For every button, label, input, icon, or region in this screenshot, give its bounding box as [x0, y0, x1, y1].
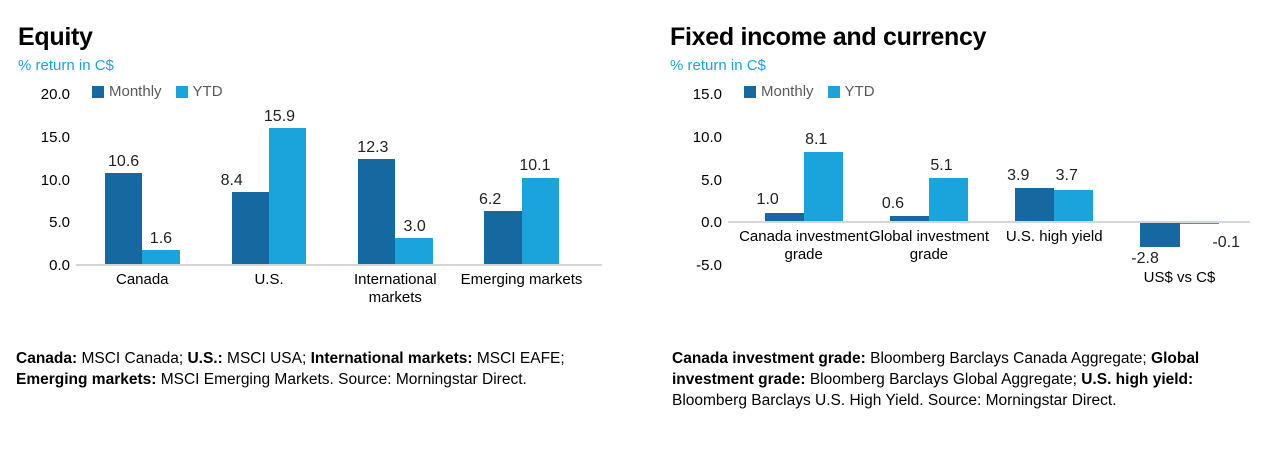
bar-monthly[interactable] [890, 216, 929, 221]
fixed-income-y-axis: 15.0 10.0 5.0 0.0 -5.0 [670, 81, 722, 296]
equity-y-tick: 5.0 [18, 215, 70, 230]
bar-value-ytd: 15.9 [250, 109, 310, 125]
bar-value-monthly: 1.0 [736, 192, 799, 208]
equity-plot-area: Monthly YTD 10.6 1.6 Canada [76, 81, 602, 296]
legend-item-ytd: YTD [176, 83, 223, 100]
bar-value-ytd: 10.1 [504, 158, 567, 174]
bar-monthly[interactable] [765, 213, 804, 222]
bar-ytd[interactable] [522, 178, 559, 265]
equity-group-canada: 10.6 1.6 Canada [105, 81, 180, 296]
legend-label-ytd: YTD [193, 83, 223, 100]
fixed-income-panel: Fixed income and currency % return in C$… [660, 0, 1270, 296]
equity-y-tick: 0.0 [18, 258, 70, 273]
equity-panel: Equity % return in C$ 20.0 15.0 10.0 5.0… [0, 0, 660, 296]
fixed-income-chart: 15.0 10.0 5.0 0.0 -5.0 Monthly YTD [670, 81, 1250, 296]
equity-y-tick: 10.0 [18, 173, 70, 188]
fixed-income-y-tick: 10.0 [670, 130, 722, 145]
equity-y-axis: 20.0 15.0 10.0 5.0 0.0 [18, 81, 70, 296]
equity-y-tick: 20.0 [18, 87, 70, 102]
bar-monthly[interactable] [358, 159, 395, 264]
fixed-income-panel-title: Fixed income and currency [670, 22, 1270, 52]
fixed-income-panel-subtitle: % return in C$ [670, 56, 1270, 75]
equity-footnote: Canada: MSCI Canada; U.S.: MSCI USA; Int… [16, 348, 596, 390]
bar-value-monthly: -2.8 [1114, 251, 1177, 267]
legend-swatch-monthly-icon [744, 86, 756, 98]
equity-panel-title: Equity [18, 22, 660, 52]
bar-monthly[interactable] [1140, 223, 1179, 247]
equity-panel-subtitle: % return in C$ [18, 56, 660, 75]
bar-value-ytd: 1.6 [132, 231, 190, 247]
fixed-income-group-canada-ig: 1.0 8.1 Canada investment grade [765, 81, 843, 296]
bar-ytd[interactable] [1054, 190, 1093, 222]
equity-cat-label: International markets [333, 271, 458, 307]
fixed-income-y-tick: 0.0 [670, 215, 722, 230]
bar-value-ytd: 5.1 [910, 158, 973, 174]
bar-ytd[interactable] [1180, 223, 1219, 224]
bar-value-monthly: 8.4 [202, 173, 262, 189]
equity-group-us: 8.4 15.9 U.S. [232, 81, 307, 296]
bar-monthly[interactable] [105, 173, 142, 264]
bar-ytd[interactable] [395, 238, 432, 264]
bar-ytd[interactable] [929, 178, 968, 222]
fixed-income-group-usd-vs-cad: -2.8 -0.1 US$ vs C$ [1140, 81, 1218, 296]
bar-ytd[interactable] [142, 250, 179, 264]
bar-monthly[interactable] [232, 192, 269, 264]
fixed-income-footnote: Canada investment grade: Bloomberg Barcl… [672, 348, 1262, 411]
equity-group-international: 12.3 3.0 International markets [358, 81, 433, 296]
fixed-income-y-tick: 15.0 [670, 87, 722, 102]
equity-group-emerging: 6.2 10.1 Emerging markets [484, 81, 559, 296]
bar-value-monthly: 0.6 [862, 196, 925, 212]
bar-value-monthly: 12.3 [342, 140, 405, 156]
fixed-income-plot-area: Monthly YTD 1.0 8.1 Canada investment gr… [728, 81, 1250, 296]
equity-chart: 20.0 15.0 10.0 5.0 0.0 Monthly YTD [18, 81, 618, 296]
legend-swatch-monthly-icon [92, 86, 104, 98]
equity-cat-label: U.S. [202, 271, 336, 289]
bar-value-monthly: 6.2 [460, 192, 520, 208]
bar-value-ytd: 3.7 [1035, 168, 1098, 184]
bar-ytd[interactable] [269, 128, 306, 264]
bar-value-ytd: 3.0 [385, 219, 445, 235]
fixed-income-cat-label: US$ vs C$ [1100, 269, 1260, 287]
fixed-income-group-global-ig: 0.6 5.1 Global investment grade [890, 81, 968, 296]
equity-cat-label: Canada [75, 271, 209, 289]
bar-value-ytd: 8.1 [785, 132, 848, 148]
bar-ytd[interactable] [804, 152, 843, 221]
legend-label-ytd: YTD [845, 83, 875, 100]
fixed-income-cat-label: U.S. high yield [974, 228, 1134, 246]
fixed-income-y-tick: 5.0 [670, 173, 722, 188]
fixed-income-y-tick: -5.0 [670, 258, 722, 273]
bar-monthly[interactable] [484, 211, 521, 264]
bar-value-monthly: 10.6 [94, 154, 152, 170]
charts-container: Equity % return in C$ 20.0 15.0 10.0 5.0… [0, 0, 1270, 296]
bar-monthly[interactable] [1015, 188, 1054, 221]
equity-cat-label: Emerging markets [441, 271, 602, 289]
equity-y-tick: 15.0 [18, 130, 70, 145]
fixed-income-group-us-high-yield: 3.9 3.7 U.S. high yield [1015, 81, 1093, 296]
bar-value-ytd: -0.1 [1212, 235, 1270, 251]
